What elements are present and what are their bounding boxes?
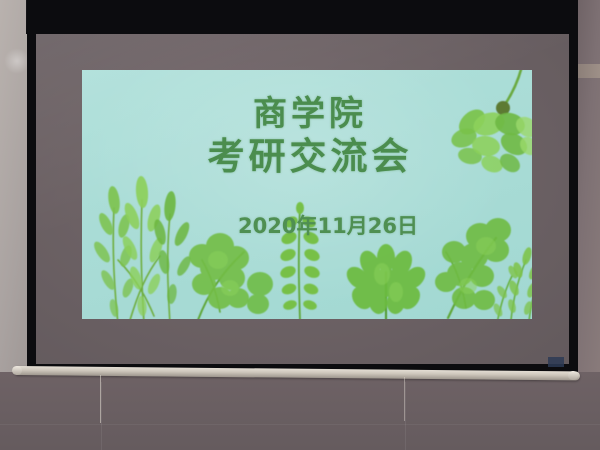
wall-seam-vertical-right [405, 382, 406, 450]
projected-slide: 商学院 考研交流会 2020年11月26日 [82, 70, 532, 319]
screen-bar-cap-right [568, 371, 578, 380]
photo-scene: 商学院 考研交流会 2020年11月26日 [0, 0, 600, 450]
screen-corner-tab [548, 357, 564, 367]
seed-sprig-decoration [482, 236, 532, 319]
wall-lower [0, 372, 600, 450]
wall-seam-vertical-left [101, 382, 102, 450]
projection-glow [82, 70, 532, 319]
slide-title-block: 商学院 考研交流会 [82, 96, 532, 177]
slide-title-line-1: 商学院 [82, 96, 532, 133]
pull-cord-right[interactable] [404, 377, 405, 421]
ginkgo-cluster-decoration [434, 70, 532, 182]
slide-title-line-2: 考研交流会 [82, 137, 532, 177]
screen-bar-cap-left [12, 366, 22, 375]
leafy-bush-decoration [338, 236, 434, 319]
wall-seam-horizontal [0, 424, 600, 425]
slide-date: 2020年11月26日 [82, 210, 532, 240]
pull-cord-left[interactable] [100, 375, 101, 423]
small-leaf-blob-decoration [248, 262, 288, 319]
